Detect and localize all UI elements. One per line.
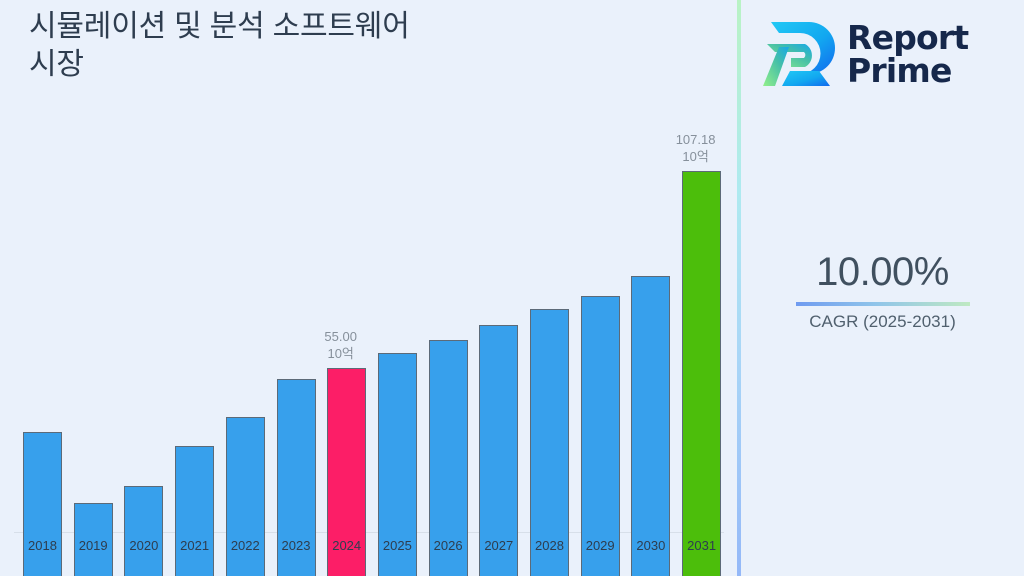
- bar-column: [17, 153, 68, 576]
- cagr-caption: CAGR (2025-2031): [741, 310, 1024, 334]
- bar-column: [372, 153, 423, 576]
- bar-column: 55.00 10억: [321, 153, 372, 576]
- brand-logo: Report Prime: [753, 8, 1013, 100]
- cagr-divider-rule: [796, 302, 970, 306]
- brand-wordmark: Report Prime: [847, 21, 968, 87]
- x-tick-2026: 2026: [423, 538, 474, 553]
- bar-column: [625, 153, 676, 576]
- x-tick-2019: 2019: [68, 538, 119, 553]
- report-prime-logo-icon: [753, 14, 837, 94]
- x-tick-2029: 2029: [575, 538, 626, 553]
- bar-column: [169, 153, 220, 576]
- brand-line-2: Prime: [847, 54, 968, 87]
- bar-column: [118, 153, 169, 576]
- x-tick-2023: 2023: [271, 538, 322, 553]
- x-tick-2022: 2022: [220, 538, 271, 553]
- x-tick-2021: 2021: [169, 538, 220, 553]
- x-tick-2028: 2028: [524, 538, 575, 553]
- x-tick-2020: 2020: [118, 538, 169, 553]
- bar-column: [575, 153, 626, 576]
- cagr-value: 10.00%: [741, 248, 1024, 296]
- bar-column: [473, 153, 524, 576]
- bar-column: [423, 153, 474, 576]
- bar-column: 107.18 10억: [676, 153, 727, 576]
- bar-column: [524, 153, 575, 576]
- bar-2020[interactable]: [124, 486, 163, 576]
- page-title: 시뮬레이션 및 분석 소프트웨어 시장: [29, 8, 719, 84]
- bar-2021[interactable]: [175, 446, 214, 576]
- chart-panel: 시뮬레이션 및 분석 소프트웨어 시장 55.00 10억107.18 10억 …: [0, 0, 739, 576]
- cagr-summary: 10.00% CAGR (2025-2031): [741, 248, 1024, 334]
- bar-2030[interactable]: [631, 276, 670, 576]
- x-tick-2025: 2025: [372, 538, 423, 553]
- x-tick-2027: 2027: [473, 538, 524, 553]
- summary-panel: Report Prime 10.00% CAGR (2025-2031): [741, 0, 1024, 576]
- chart-infographic: 시뮬레이션 및 분석 소프트웨어 시장 55.00 10억107.18 10억 …: [0, 0, 1024, 576]
- x-tick-2031: 2031: [676, 538, 727, 553]
- bar-column: [220, 153, 271, 576]
- bar-2028[interactable]: [530, 309, 569, 576]
- bar-2031[interactable]: [682, 171, 721, 576]
- x-tick-2030: 2030: [625, 538, 676, 553]
- bar-2018[interactable]: [23, 432, 62, 576]
- bar-column: [68, 153, 119, 576]
- bar-2029[interactable]: [581, 296, 620, 576]
- bar-chart: 55.00 10억107.18 10억 20182019202020212022…: [0, 110, 739, 576]
- bar-column: [271, 153, 322, 576]
- x-tick-2018: 2018: [17, 538, 68, 553]
- x-tick-2024: 2024: [321, 538, 372, 553]
